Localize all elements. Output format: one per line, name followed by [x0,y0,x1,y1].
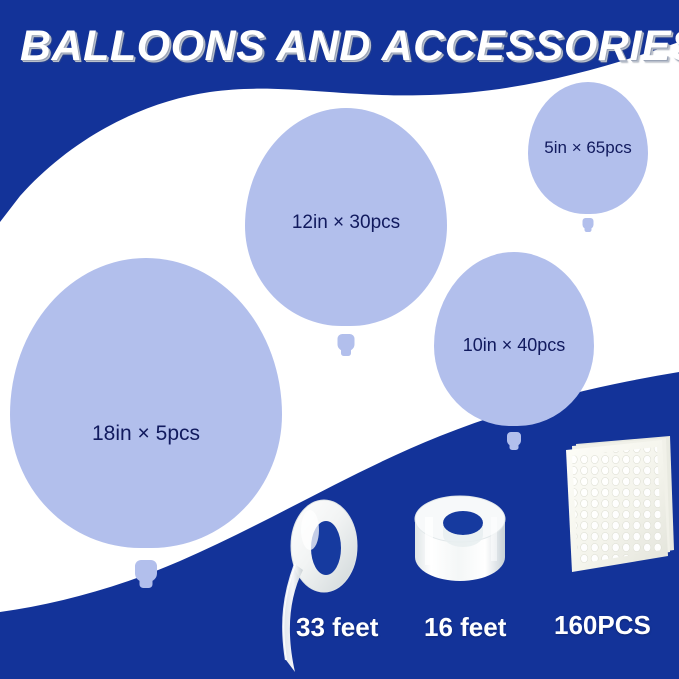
tape-roll-label: 16 feet [424,612,506,643]
balloon-body [10,258,282,548]
balloon-label-5in: 5in × 65pcs [528,138,648,158]
glue-dot-sheet-label: 160PCS [554,610,651,641]
balloon-12in: 12in × 30pcs [245,108,447,356]
balloon-18in: 18in × 5pcs [10,258,282,588]
balloon-tip [585,225,592,232]
glue-dot-sheet [558,432,678,592]
balloon-5in: 5in × 65pcs [528,82,648,232]
balloon-tip [510,442,519,450]
tape-inner-hole [443,511,483,535]
tape-gloss-1 [425,517,433,565]
balloon-tip [341,347,351,356]
ribbon-coil-highlight [301,510,319,550]
balloon-label-18in: 18in × 5pcs [10,422,282,446]
tape-gloss-2 [491,517,497,561]
ribbon-roll [262,490,382,675]
balloon-10in: 10in × 40pcs [434,252,594,450]
glue-dot-count: 160 [554,610,597,640]
balloon-tip [140,576,153,588]
balloon-label-10in: 10in × 40pcs [434,335,594,356]
glue-dot-unit: PCS [597,610,650,640]
tape-roll [405,495,515,600]
ribbon-roll-label: 33 feet [296,612,378,643]
balloon-label-12in: 12in × 30pcs [245,212,447,234]
product-infographic: BALLOONS AND ACCESSORIES 18in × 5pcs 12i… [0,0,679,679]
